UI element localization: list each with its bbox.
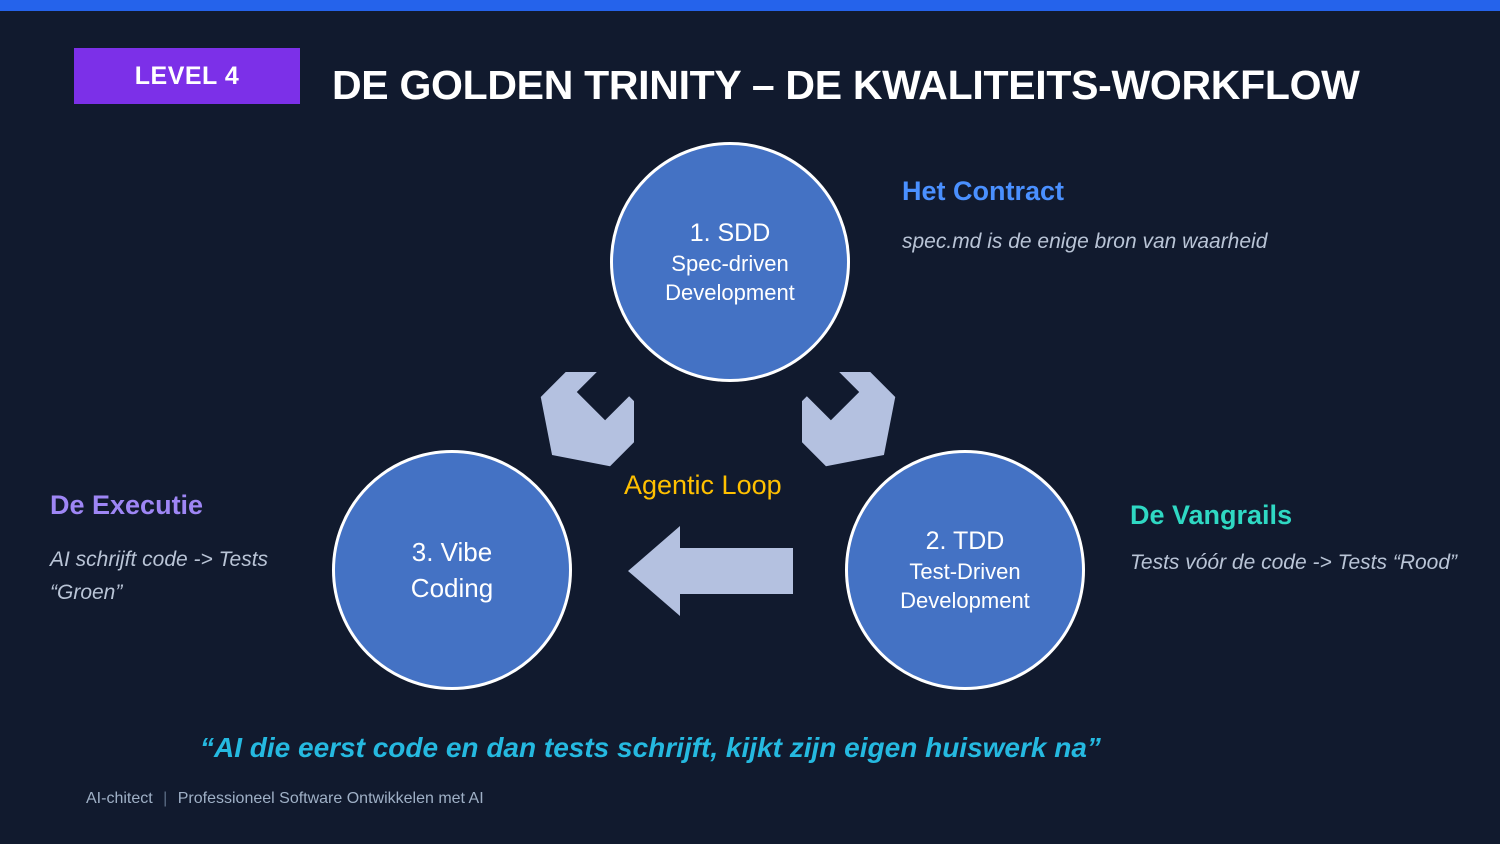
- level-badge-label: LEVEL 4: [135, 62, 239, 91]
- node-vibe-title: 3. Vibe: [412, 534, 492, 570]
- footer-separator: |: [157, 790, 173, 807]
- node-tdd-subtitle-line2: Development: [900, 587, 1030, 616]
- node-circle-vibe: 3. Vibe Coding: [332, 450, 572, 690]
- node-circle-tdd: 2. TDD Test-Driven Development: [845, 450, 1085, 690]
- arrow-tdd-to-vibe-icon: [628, 526, 793, 616]
- footer-bar: AI-chitect | Professioneel Software Ontw…: [86, 790, 484, 808]
- callout-executie-heading: De Executie: [50, 490, 203, 521]
- slide-canvas: LEVEL 4 DE GOLDEN TRINITY – DE KWALITEIT…: [0, 0, 1500, 844]
- callout-contract-heading: Het Contract: [902, 176, 1064, 207]
- node-sdd-subtitle-line2: Development: [665, 279, 795, 308]
- callout-executie-body: AI schrijft code -> Tests “Groen”: [50, 544, 340, 609]
- footer-tagline: Professioneel Software Ontwikkelen met A…: [178, 790, 484, 807]
- node-vibe-subtitle-line1: Coding: [411, 570, 493, 606]
- arrow-vibe-to-sdd-icon: [538, 372, 634, 470]
- node-tdd-title: 2. TDD: [926, 525, 1005, 559]
- level-badge: LEVEL 4: [74, 48, 300, 104]
- agentic-loop-label: Agentic Loop: [624, 470, 782, 501]
- callout-vangrails-heading: De Vangrails: [1130, 500, 1292, 531]
- pull-quote: “AI die eerst code en dan tests schrijft…: [200, 730, 1260, 767]
- node-circle-sdd: 1. SDD Spec-driven Development: [610, 142, 850, 382]
- callout-vangrails-body: Tests vóór de code -> Tests “Rood”: [1130, 547, 1460, 580]
- page-title: DE GOLDEN TRINITY – DE KWALITEITS-WORKFL…: [332, 58, 1432, 112]
- top-accent-bar: [0, 0, 1500, 11]
- callout-contract-body: spec.md is de enige bron van waarheid: [902, 226, 1312, 259]
- node-tdd-subtitle-line1: Test-Driven: [909, 558, 1020, 587]
- node-sdd-title: 1. SDD: [690, 217, 771, 251]
- footer-brand: AI-chitect: [86, 790, 153, 807]
- arrow-sdd-to-tdd-icon: [802, 372, 898, 470]
- node-sdd-subtitle-line1: Spec-driven: [671, 250, 788, 279]
